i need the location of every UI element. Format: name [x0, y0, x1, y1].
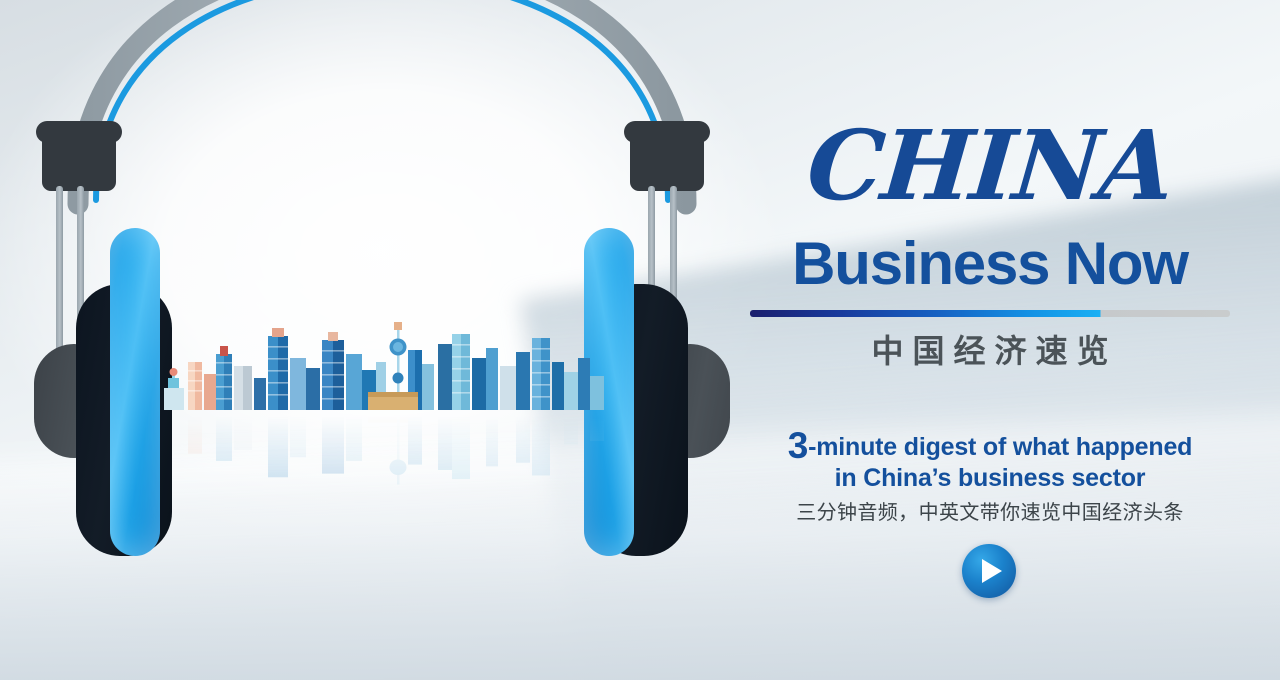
tagline: 3-minute digest of what happened in Chin…	[740, 430, 1240, 494]
tagline-number: 3	[788, 425, 808, 466]
brand-text-panel: CHINA Business Now 中国经济速览 3-minute diges…	[740, 0, 1240, 680]
page-title: CHINA	[736, 118, 1244, 214]
skyline-reflection	[150, 410, 610, 510]
tagline-line2: in China’s business sector	[835, 464, 1146, 492]
city-skyline-illustration	[150, 300, 610, 410]
right-yoke-cap	[624, 121, 710, 143]
tagline-line1: -minute digest of what happened	[808, 433, 1192, 461]
play-button[interactable]	[962, 544, 1016, 598]
chinese-tagline: 三分钟音频，中英文带你速览中国经济头条	[740, 500, 1240, 526]
left-yoke-cap	[36, 121, 122, 143]
left-yoke-connector	[42, 129, 116, 191]
poster-canvas: CHINA Business Now 中国经济速览 3-minute diges…	[0, 0, 1280, 680]
gradient-divider	[750, 310, 1230, 317]
play-triangle-icon	[982, 559, 1002, 583]
right-yoke-connector	[630, 129, 704, 191]
chinese-title: 中国经济速览	[740, 327, 1240, 375]
page-subtitle: Business Now	[740, 232, 1240, 296]
